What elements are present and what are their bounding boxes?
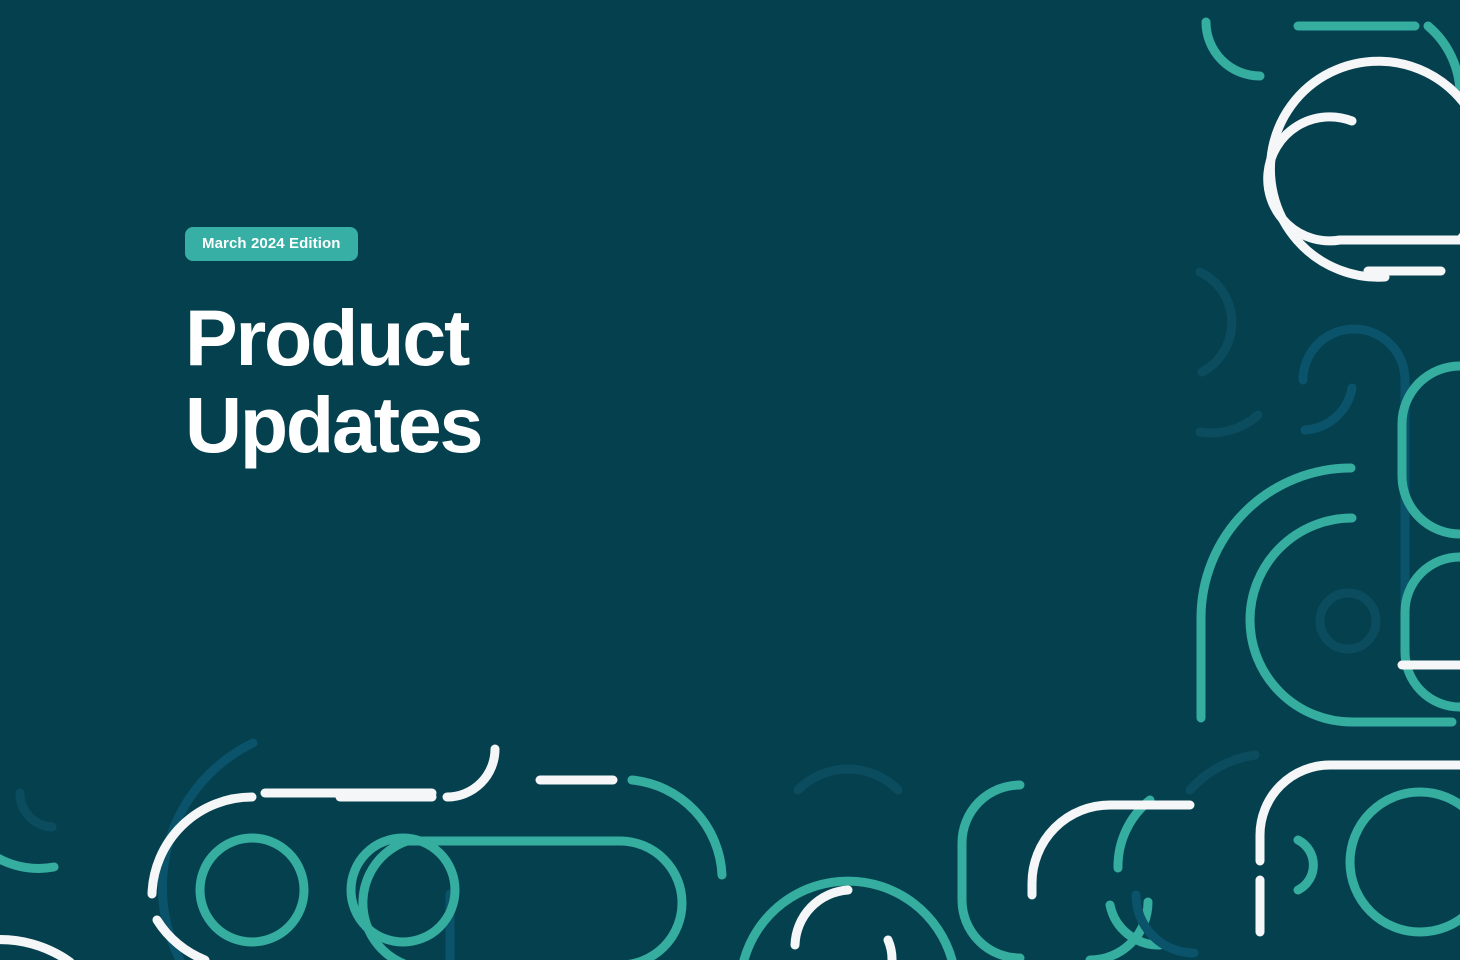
pattern-group-top-right <box>1200 22 1460 433</box>
cover-content: March 2024 Edition Product Updates <box>185 227 481 468</box>
pattern-group-bottom-right <box>1110 755 1460 945</box>
cover-page: March 2024 Edition Product Updates <box>0 0 1460 960</box>
pattern-group-bottom-center-right <box>962 785 1194 960</box>
pattern-group-bottom-center <box>744 769 952 960</box>
edition-badge: March 2024 Edition <box>185 227 358 261</box>
pattern-group-bottom-left <box>0 743 455 960</box>
pattern-group-pill <box>340 749 722 960</box>
decorative-pattern <box>0 0 1460 960</box>
page-title: Product Updates <box>185 294 481 468</box>
pattern-group-right-middle <box>1201 329 1460 722</box>
